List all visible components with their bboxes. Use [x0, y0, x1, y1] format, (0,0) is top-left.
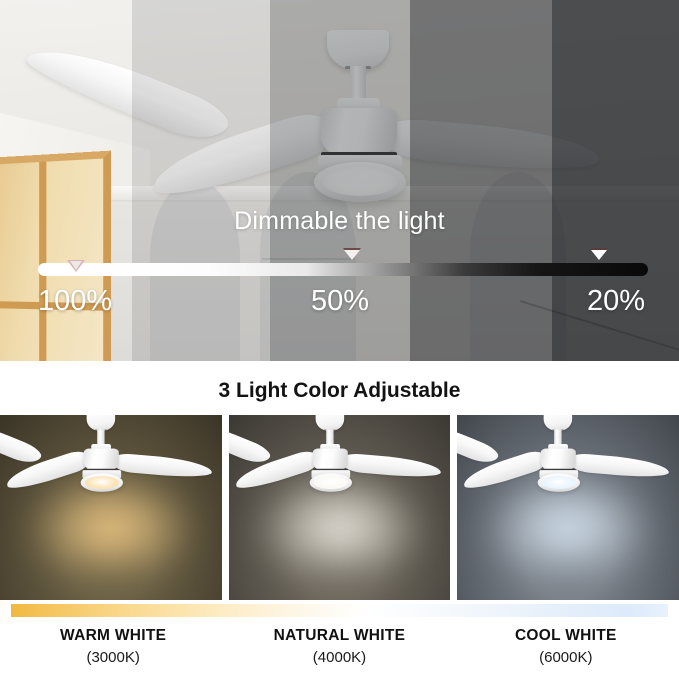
cct-label-group-0: WARM WHITE(3000K) — [0, 627, 226, 666]
fan-blade-right — [568, 452, 670, 479]
cct-panel-0 — [0, 415, 222, 600]
brightness-slider[interactable] — [38, 263, 648, 276]
color-temperature-labels: WARM WHITE(3000K)NATURAL WHITE(4000K)COO… — [0, 627, 679, 666]
band-2 — [132, 0, 270, 361]
band-4 — [410, 0, 552, 361]
brightness-label-1: 50% — [311, 285, 369, 318]
ceiling-fan — [243, 415, 436, 496]
cct-mode-name: COOL WHITE — [453, 627, 679, 645]
ceiling-fan — [472, 415, 665, 496]
fan-light-lens — [85, 476, 119, 489]
color-temperature-panels — [0, 415, 679, 600]
product-feature-graphic: Dimmable the light 100%50%20% 3 Light Co… — [0, 0, 679, 673]
cct-mode-name: NATURAL WHITE — [226, 627, 452, 645]
fan-light-lens — [313, 476, 347, 489]
dimming-title: Dimmable the light — [0, 207, 679, 236]
cct-mode-kelvin: (6000K) — [453, 649, 679, 666]
dimming-section: Dimmable the light 100%50%20% — [0, 0, 679, 361]
marker-100-icon[interactable] — [67, 260, 85, 272]
fan-blade-right — [339, 452, 441, 479]
cct-mode-name: WARM WHITE — [0, 627, 226, 645]
cct-mode-kelvin: (4000K) — [226, 649, 452, 666]
fan-light-lens — [542, 476, 576, 489]
cct-panel-1 — [229, 415, 451, 600]
brightness-label-2: 20% — [587, 285, 645, 318]
cct-label-group-1: NATURAL WHITE(4000K) — [226, 627, 452, 666]
cct-label-group-2: COOL WHITE(6000K) — [453, 627, 679, 666]
cct-panel-2 — [457, 415, 679, 600]
color-temperature-gradient-bar — [11, 604, 668, 617]
color-temperature-heading: 3 Light Color Adjustable — [0, 379, 679, 403]
ceiling-fan — [14, 415, 207, 496]
cct-mode-kelvin: (3000K) — [0, 649, 226, 666]
fan-blade-right — [110, 452, 212, 479]
brightness-label-0: 100% — [38, 285, 112, 318]
